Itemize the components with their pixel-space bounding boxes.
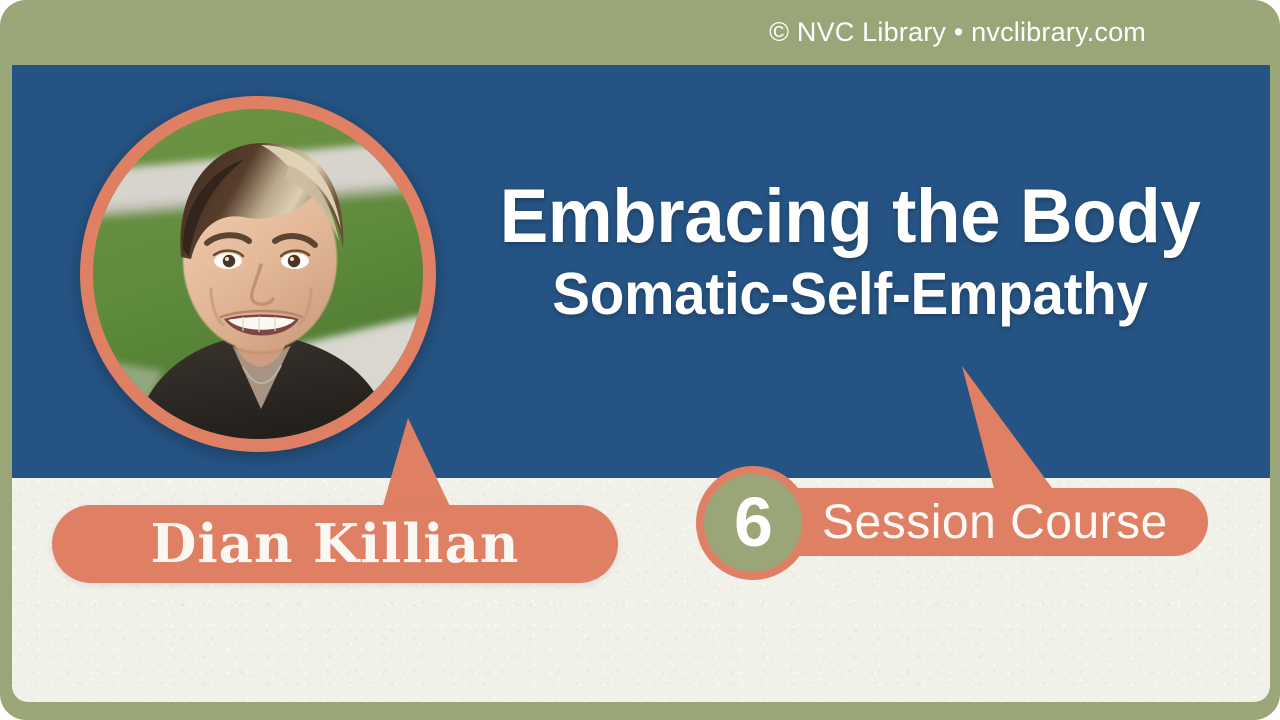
speaker-portrait (80, 96, 436, 452)
course-promo-card: © NVC Library • nvclibrary.com (0, 0, 1280, 720)
copyright-text: © NVC Library • nvclibrary.com (769, 17, 1146, 48)
title-block: Embracing the Body Somatic-Self-Empathy (470, 180, 1230, 327)
session-course-pill: Session Course (760, 488, 1208, 556)
session-course-label: Session Course (822, 495, 1168, 550)
course-subtitle: Somatic-Self-Empathy (485, 262, 1215, 327)
person-portrait-icon (93, 109, 423, 439)
session-count-value: 6 (734, 487, 772, 557)
presenter-name: Dian Killian (151, 513, 520, 575)
course-title: Embracing the Body (485, 180, 1215, 254)
presenter-name-pill: Dian Killian (52, 505, 618, 583)
pointer-right-tail-icon (950, 366, 1070, 496)
session-count-badge: 6 (696, 466, 810, 580)
copyright-bar: © NVC Library • nvclibrary.com (0, 0, 1280, 65)
